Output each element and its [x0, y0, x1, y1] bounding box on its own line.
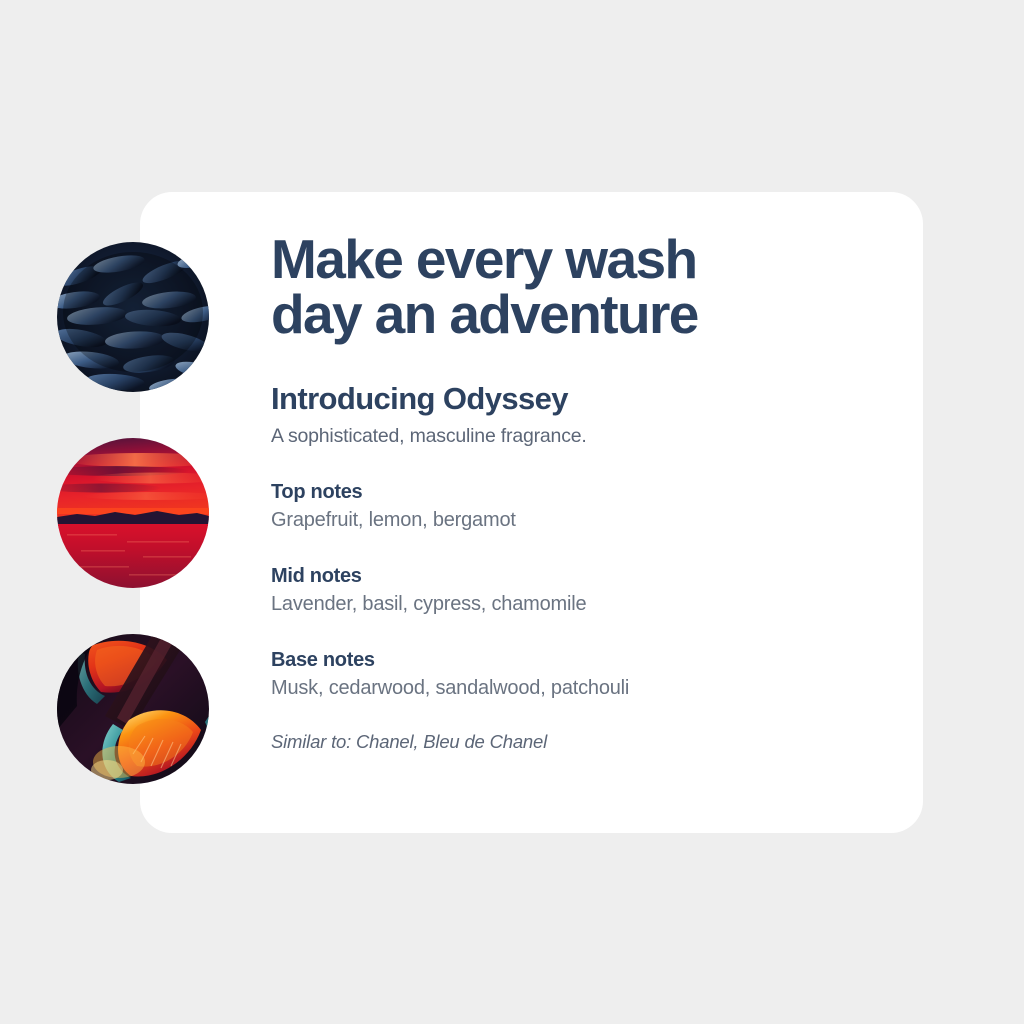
note-group-mid: Mid notes Lavender, basil, cypress, cham…: [271, 565, 871, 616]
thumbnail-red-sunset[interactable]: [57, 438, 209, 588]
thumbnail-rail: [57, 242, 209, 784]
note-title: Top notes: [271, 481, 871, 504]
similar-to-note: Similar to: Chanel, Bleu de Chanel: [271, 731, 871, 753]
thumbnail-lavender-buds[interactable]: [57, 242, 209, 392]
thumbnail-grapefruit[interactable]: [57, 634, 209, 784]
page-title: Make every wash day an adventure: [271, 232, 871, 342]
product-tagline: A sophisticated, masculine fragrance.: [271, 425, 871, 448]
product-subheading: Introducing Odyssey: [271, 381, 871, 417]
note-value: Musk, cedarwood, sandalwood, patchouli: [271, 677, 871, 700]
note-value: Lavender, basil, cypress, chamomile: [271, 593, 871, 616]
note-group-base: Base notes Musk, cedarwood, sandalwood, …: [271, 649, 871, 700]
note-title: Mid notes: [271, 565, 871, 588]
note-value: Grapefruit, lemon, bergamot: [271, 509, 871, 532]
note-title: Base notes: [271, 649, 871, 672]
card-content: Make every wash day an adventure Introdu…: [271, 232, 871, 753]
note-group-top: Top notes Grapefruit, lemon, bergamot: [271, 481, 871, 532]
